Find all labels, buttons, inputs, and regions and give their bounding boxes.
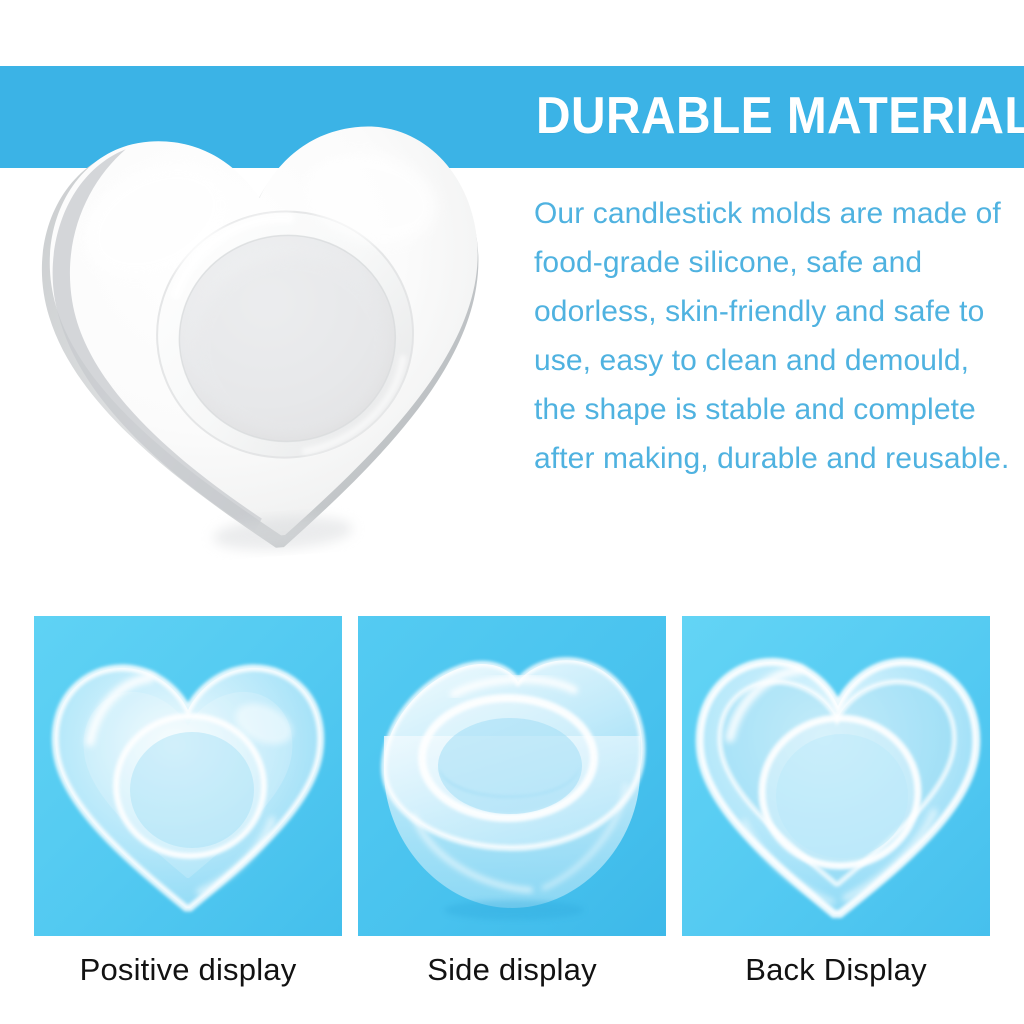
hero-product-image (28, 74, 500, 566)
caption-back-display: Back Display (682, 950, 990, 996)
thumbnail-side-display[interactable] (358, 616, 666, 936)
thumbnail-positive-display[interactable] (34, 616, 342, 936)
heart-mold-icon (28, 74, 500, 566)
description-paragraph: Our candlestick molds are made of food-g… (534, 189, 1014, 483)
thumbnail-row (34, 616, 990, 936)
caption-positive-display: Positive display (34, 950, 342, 996)
heart-mold-front-icon (34, 616, 342, 936)
heart-mold-back-icon (682, 616, 990, 936)
caption-row: Positive display Side display Back Displ… (34, 950, 990, 996)
thumbnail-back-display[interactable] (682, 616, 990, 936)
caption-side-display: Side display (358, 950, 666, 996)
heart-mold-side-icon (358, 616, 666, 936)
infographic-page: DURABLE MATERIAL Our candlestick molds a… (0, 0, 1024, 1024)
page-title: DURABLE MATERIAL (536, 86, 978, 148)
